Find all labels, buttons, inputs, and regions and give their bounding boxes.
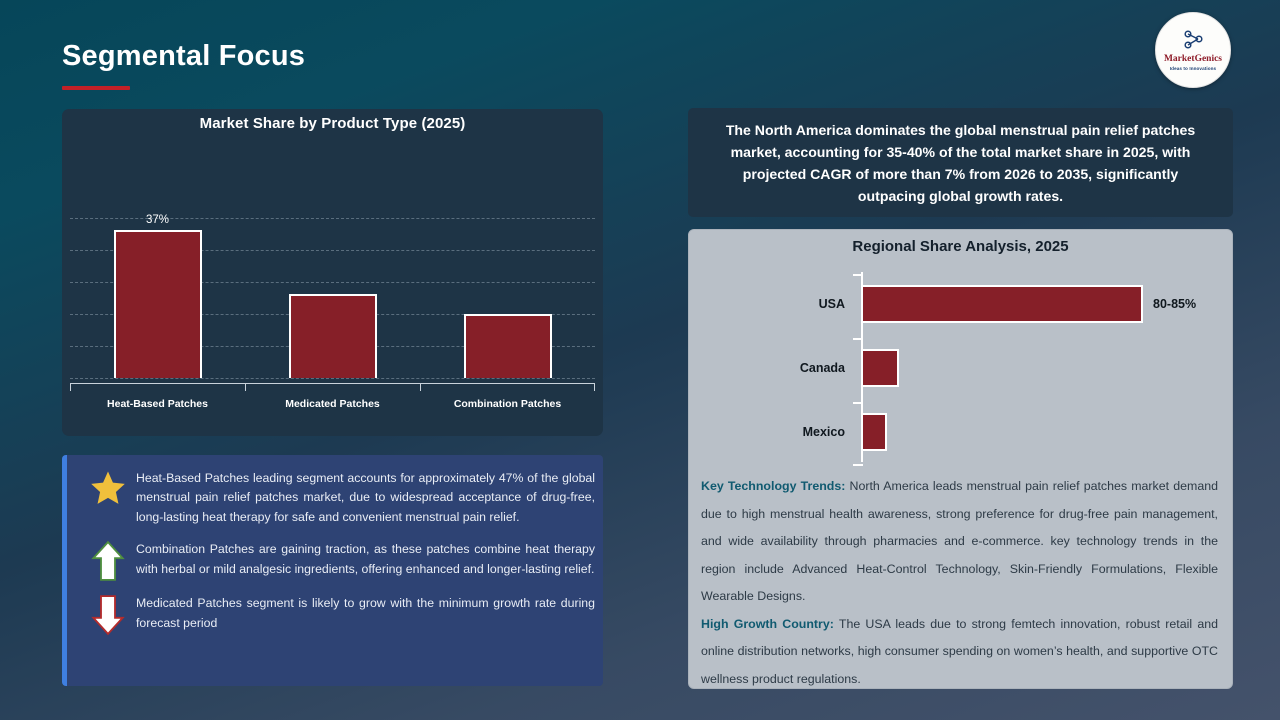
bar-slot-combination-patches[interactable] — [420, 204, 595, 378]
takeaway-item-2: Combination Patches are gaining traction… — [62, 540, 603, 582]
regional-value-usa: 80-85% — [1153, 297, 1196, 311]
logo-tagline: Ideas to Innovations — [1170, 66, 1216, 71]
takeaway-text-3: Medicated Patches segment is likely to g… — [132, 594, 595, 633]
key-technology-trends-label: Key Technology Trends: — [701, 479, 845, 493]
y-axis-tick — [853, 338, 863, 340]
bar-combination-patches[interactable] — [464, 314, 552, 378]
regional-insight-text: The North America dominates the global m… — [710, 119, 1211, 207]
high-growth-country-label: High Growth Country: — [701, 617, 834, 631]
bar-medicated-patches[interactable] — [289, 294, 377, 378]
regional-label-usa: USA — [689, 297, 861, 311]
regional-bar-row-canada[interactable]: Canada — [689, 346, 1232, 390]
regional-label-canada: Canada — [689, 361, 861, 375]
takeaway-text-1: Heat-Based Patches leading segment accou… — [132, 469, 595, 527]
page-title: Segmental Focus — [62, 40, 305, 73]
regional-share-card: Regional Share Analysis, 2025 USA 80-85%… — [688, 229, 1233, 689]
network-nodes-icon — [1180, 29, 1206, 54]
product-chart-x-axis — [70, 383, 595, 384]
product-bars: 37% — [70, 204, 595, 378]
regional-bar-canada[interactable] — [861, 349, 899, 387]
regional-chart-plot: USA 80-85% Canada Mexico — [689, 266, 1232, 466]
x-axis-tick — [594, 383, 595, 391]
regional-label-mexico: Mexico — [689, 425, 861, 439]
bar-slot-medicated-patches[interactable] — [245, 204, 420, 378]
bar-heat-based-patches[interactable] — [114, 230, 202, 378]
product-chart-x-labels: Heat-Based Patches Medicated Patches Com… — [70, 398, 595, 410]
key-takeaways-card: Heat-Based Patches leading segment accou… — [62, 455, 603, 686]
product-chart-plot: 37% — [70, 204, 595, 378]
x-axis-tick — [420, 383, 421, 391]
y-axis-tick — [853, 464, 863, 466]
arrow-up-icon — [84, 540, 132, 582]
takeaway-item-1: Heat-Based Patches leading segment accou… — [62, 469, 603, 527]
x-axis-tick — [245, 383, 246, 391]
takeaway-item-3: Medicated Patches segment is likely to g… — [62, 594, 603, 636]
regional-bar-row-usa[interactable]: USA 80-85% — [689, 282, 1232, 326]
y-axis-tick — [853, 402, 863, 404]
x-axis-tick — [70, 383, 71, 391]
x-label-medicated-patches: Medicated Patches — [245, 398, 420, 410]
regional-chart-title: Regional Share Analysis, 2025 — [689, 230, 1232, 255]
regional-bar-usa[interactable] — [861, 285, 1143, 323]
regional-bar-row-mexico[interactable]: Mexico — [689, 410, 1232, 454]
product-chart-card: Market Share by Product Type (2025) 37% — [62, 109, 603, 436]
title-underline-rule — [62, 86, 130, 90]
regional-bar-mexico[interactable] — [861, 413, 887, 451]
card-accent-bar — [62, 455, 67, 686]
key-technology-trends-paragraph: Key Technology Trends: North America lea… — [701, 473, 1218, 611]
star-icon — [84, 469, 132, 507]
bar-slot-heat-based-patches[interactable]: 37% — [70, 204, 245, 378]
takeaway-text-2: Combination Patches are gaining traction… — [132, 540, 595, 579]
product-chart-title: Market Share by Product Type (2025) — [62, 109, 603, 132]
x-label-heat-based-patches: Heat-Based Patches — [70, 398, 245, 410]
x-label-combination-patches: Combination Patches — [420, 398, 595, 410]
logo: MarketGenics Ideas to Innovations — [1155, 12, 1231, 88]
arrow-down-icon — [84, 594, 132, 636]
logo-brand: MarketGenics — [1164, 55, 1222, 65]
gridline — [70, 378, 595, 379]
key-technology-trends-body: North America leads menstrual pain relie… — [701, 479, 1218, 603]
regional-insight-band: The North America dominates the global m… — [688, 108, 1233, 217]
bar-value-label: 37% — [146, 214, 169, 226]
regional-analysis-text: Key Technology Trends: North America lea… — [701, 473, 1218, 693]
high-growth-country-paragraph: High Growth Country: The USA leads due t… — [701, 611, 1218, 694]
y-axis-tick — [853, 274, 863, 276]
